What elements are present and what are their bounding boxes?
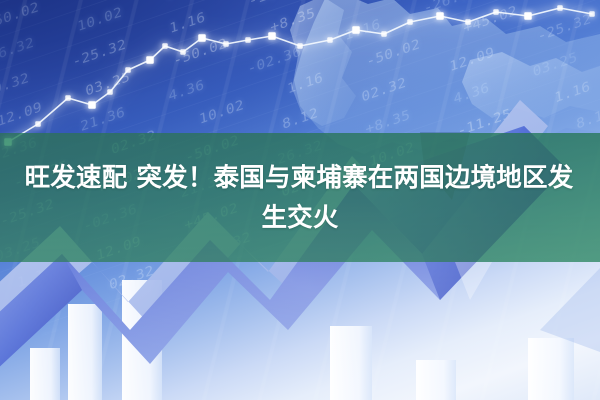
headline-line-1: 旺发速配 突发！泰国与柬埔寨在两国边境地区发 [25,159,574,197]
headline-text-block: 旺发速配 突发！泰国与柬埔寨在两国边境地区发 生交火 [0,133,600,262]
news-banner-image: +45.02-02.36-11.25-50.02+5.0221.36+45.02… [0,0,600,400]
headline-line-2: 生交火 [261,199,338,237]
